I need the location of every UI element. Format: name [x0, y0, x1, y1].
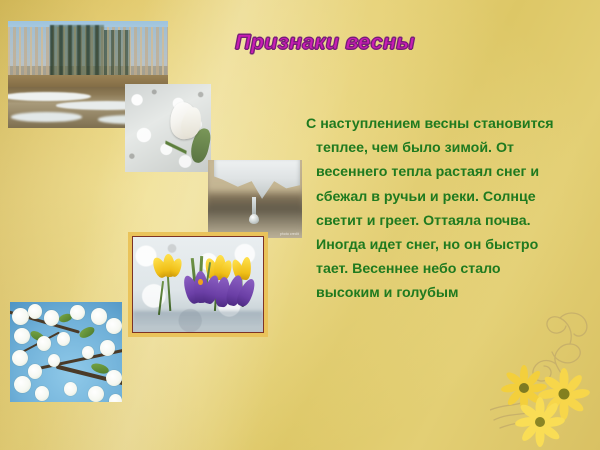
forest-snow-patch	[11, 112, 81, 122]
blossom	[12, 308, 29, 325]
blossom	[88, 386, 104, 402]
water-drop	[249, 214, 259, 224]
blossom	[70, 305, 85, 320]
blossom	[35, 386, 50, 401]
photo-cherry-blossom	[10, 302, 122, 402]
photo-white-crocus	[125, 84, 211, 172]
yellow-daisy-icon	[500, 365, 547, 411]
photo-icicle-drop: photo credit	[208, 160, 302, 238]
blossom	[44, 310, 60, 326]
blossom	[12, 350, 28, 366]
blossom	[82, 346, 94, 359]
presentation-slide: photo credit	[0, 0, 600, 450]
slide-title: Признаки весны	[185, 30, 465, 55]
vine-swirl-icon	[490, 313, 587, 428]
blossom	[106, 318, 122, 334]
photo-crocus-field	[128, 232, 268, 337]
photo-credit: photo credit	[280, 232, 299, 236]
blossom	[64, 382, 77, 396]
forest-pines-right	[104, 30, 130, 81]
blossom	[106, 370, 122, 386]
yellow-daisy-icon	[514, 397, 565, 447]
blossom	[109, 394, 122, 402]
crocus-field-inner	[132, 236, 264, 333]
slide-body-text: С наступлением весны становится теплее, …	[306, 112, 568, 306]
blossom	[100, 340, 116, 356]
yellow-daisy-icon	[537, 368, 590, 420]
snow-shadow	[133, 311, 263, 326]
